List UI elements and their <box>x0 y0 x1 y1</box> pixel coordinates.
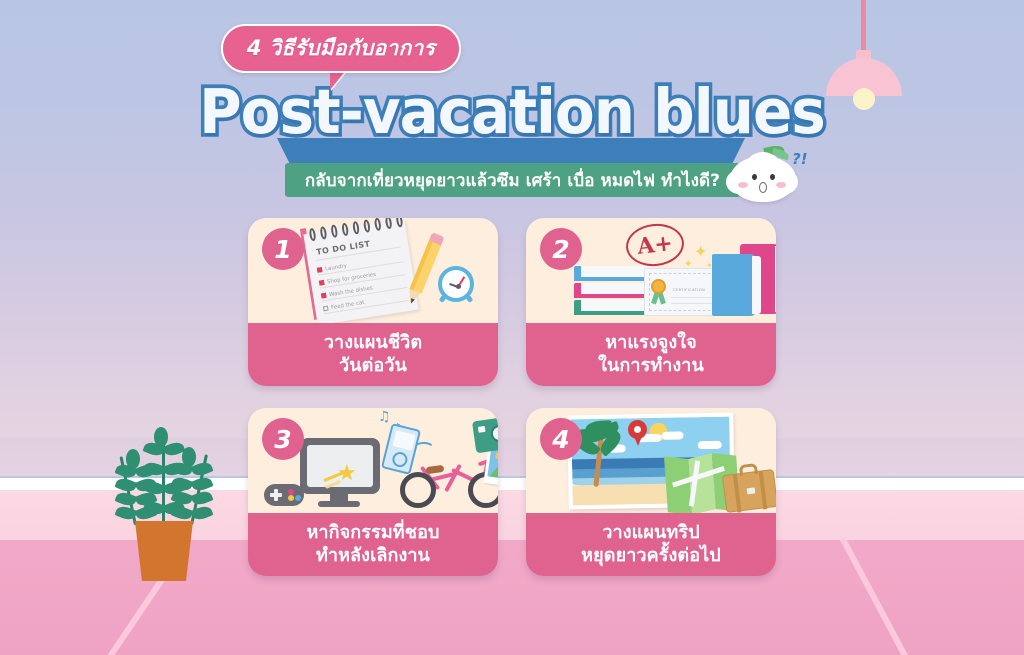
notepad-spiral-ring <box>319 226 327 240</box>
plant-leaf <box>182 447 196 467</box>
infographic-canvas: 4 วิธีรับมือกับอาการ Post-vacation blues… <box>0 0 1024 655</box>
speech-bubble: 4 วิธีรับมือกับอาการ <box>221 24 461 73</box>
sparkle-icon: ✦ <box>694 244 707 260</box>
todo-checkbox <box>319 280 325 286</box>
television-base <box>318 501 360 507</box>
mascot-eye-left <box>752 174 757 180</box>
notepad-spiral-ring <box>385 218 393 229</box>
notepad-spiral-ring <box>352 221 360 235</box>
suitcase-strap <box>759 471 768 509</box>
tip-card-1[interactable]: TO DO LIST Laundry Shop for groceries Wa… <box>248 218 498 386</box>
notepad-title: TO DO LIST <box>316 239 371 256</box>
camera-flash <box>478 426 486 433</box>
mascot-cheek-left <box>738 182 748 188</box>
card-3-label-area: หากิจกรรมที่ชอบ ทำหลังเลิกงาน <box>248 513 498 576</box>
card-4-label-line-1: วางแผนทริป <box>602 522 699 545</box>
card-2-number-badge: 2 <box>540 228 582 270</box>
subtitle-bar: กลับจากเที่ยวหยุดยาวแล้วซึม เศร้า เบื่อ … <box>285 163 740 197</box>
notepad-spiral-binding <box>303 219 404 235</box>
camera-icon <box>472 415 498 454</box>
page-title: Post-vacation blues <box>0 78 1024 146</box>
medal-icon <box>651 279 666 294</box>
card-3-label-line-2: ทำหลังเลิกงาน <box>316 545 430 568</box>
potted-plant-icon <box>104 425 224 585</box>
mascot-mouth <box>759 182 767 193</box>
book-stack-icon <box>574 266 650 318</box>
notepad-spiral-ring <box>309 228 317 242</box>
card-2-label-line-1: หาแรงจูงใจ <box>605 332 697 355</box>
bicycle-wheel-rear <box>400 472 436 508</box>
gamepad-dpad <box>274 489 278 501</box>
card-1-label-area: วางแผนชีวิต วันต่อวัน <box>248 323 498 386</box>
card-1-label-line-2: วันต่อวัน <box>339 355 407 378</box>
card-4-number-badge: 4 <box>540 418 582 460</box>
notepad-spiral-ring <box>374 218 382 231</box>
suitcase-handle <box>739 463 758 476</box>
clock-foot-right <box>466 295 474 303</box>
blue-book-icon <box>712 254 756 316</box>
card-2-label-area: หาแรงจูงใจ ในการทำงาน <box>526 323 776 386</box>
camera-lens <box>490 424 498 443</box>
card-1-number-badge: 1 <box>262 228 304 270</box>
photo-image <box>487 447 498 482</box>
suitcase-strap <box>733 474 742 512</box>
clock-foot-left <box>439 295 447 303</box>
blue-book-pages <box>752 256 761 314</box>
mascot-eye-right <box>770 174 775 180</box>
todo-checkbox <box>321 293 327 299</box>
card-4-label-line-2: หยุดยาวครั้งต่อไป <box>581 545 721 568</box>
bicycle-seat <box>426 465 445 474</box>
plant-leaf <box>190 474 213 493</box>
location-pin-icon <box>628 420 647 446</box>
gamepad-button <box>288 495 294 501</box>
suitcase-icon <box>722 469 776 513</box>
card-2-label-line-2: ในการทำงาน <box>598 355 704 378</box>
a-plus-icon: A+ <box>624 221 686 269</box>
cloud-icon <box>661 431 683 439</box>
tip-card-2[interactable]: A+ ✦ ✦ ✦ CERTIFICATION <box>526 218 776 386</box>
speech-bubble-text: 4 วิธีรับมือกับอาการ <box>247 32 435 65</box>
cloud-icon <box>698 441 722 449</box>
card-4-label-area: วางแผนทริป หยุดยาวครั้งต่อไป <box>526 513 776 576</box>
notepad-spiral-ring <box>341 223 349 237</box>
card-2-number: 2 <box>552 237 569 262</box>
card-1-number: 1 <box>274 237 291 262</box>
mascot-cheek-right <box>776 182 786 188</box>
a-plus-text: A+ <box>636 230 674 260</box>
notepad-spiral-ring <box>330 224 338 238</box>
music-player-screen <box>393 430 416 450</box>
tip-card-3[interactable]: ♫ ♪ ★ <box>248 408 498 576</box>
clock-center <box>456 284 461 289</box>
gamepad-button <box>295 495 301 501</box>
gamepad-icon <box>264 484 304 506</box>
television-icon: ★ <box>300 438 380 494</box>
notepad-spiral-ring <box>395 218 403 228</box>
card-4-number: 4 <box>552 427 569 452</box>
card-3-number: 3 <box>274 427 291 452</box>
mascot-question-mark: ?! <box>792 150 808 168</box>
plant-pot <box>135 521 193 581</box>
plant-leaf <box>154 427 168 447</box>
television-screen: ★ <box>307 445 373 487</box>
notepad-icon: TO DO LIST Laundry Shop for groceries Wa… <box>303 219 418 326</box>
cloud-mascot-icon: ?! <box>726 146 808 208</box>
clock-icon <box>438 266 474 302</box>
plant-leaf <box>114 490 137 509</box>
lamp-cord <box>861 0 866 52</box>
page-title-text: Post-vacation blues <box>199 76 825 148</box>
card-1-label-line-1: วางแผนชีวิต <box>324 332 422 355</box>
card-3-number-badge: 3 <box>262 418 304 460</box>
star-icon: ★ <box>337 463 357 485</box>
notepad-spiral-ring <box>363 219 371 233</box>
suitcase-lock <box>747 487 756 494</box>
plant-leaf <box>126 449 140 469</box>
pink-book-pages <box>775 246 776 312</box>
music-note-icon: ♫ <box>378 410 391 424</box>
photo-hill <box>489 463 498 479</box>
location-pin-dot <box>634 426 641 433</box>
subtitle-text: กลับจากเที่ยวหยุดยาวแล้วซึม เศร้า เบื่อ … <box>305 167 720 194</box>
photo-sun <box>495 451 498 460</box>
todo-checkbox <box>323 306 329 312</box>
todo-checkbox <box>317 267 323 273</box>
certificate-text: CERTIFICATION <box>673 288 705 292</box>
card-3-label-line-1: หากิจกรรมที่ชอบ <box>306 522 439 545</box>
tip-card-4[interactable]: 4 วางแผนทริป หยุดยาวครั้งต่อไป <box>526 408 776 576</box>
